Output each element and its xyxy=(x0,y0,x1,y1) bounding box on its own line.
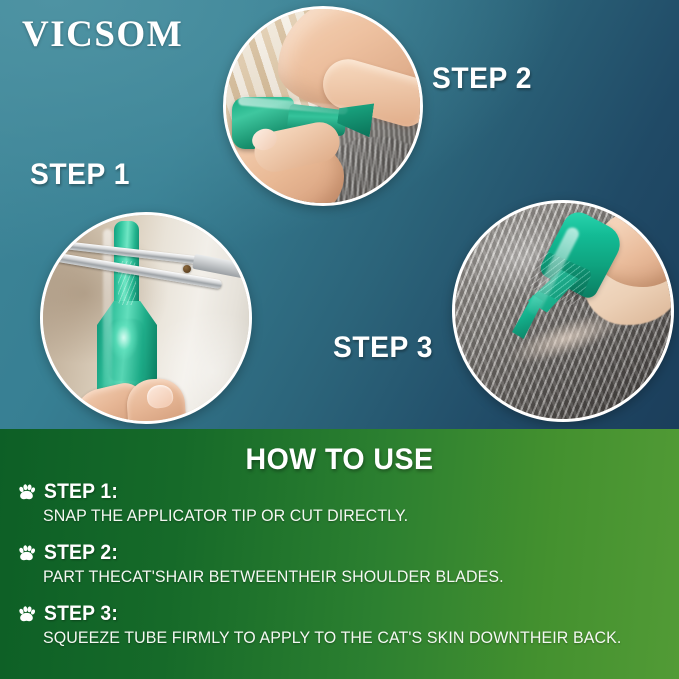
step-2-label: STEP 2 xyxy=(432,62,532,96)
pipette-liquid xyxy=(109,319,144,381)
usage-step-text: SNAP THE APPLICATOR TIP OR CUT DIRECTLY. xyxy=(43,506,630,526)
usage-step-list: STEP 1: SNAP THE APPLICATOR TIP OR CUT D… xyxy=(17,480,667,663)
brand-logo: VICSOM xyxy=(22,13,183,56)
usage-step-name: STEP 2: xyxy=(44,541,118,565)
product-infographic: VICSOM xyxy=(0,0,679,679)
usage-step-text: PART THECAT'SHAIR BETWEENTHEIR SHOULDER … xyxy=(43,567,630,587)
usage-step-text: SQUEEZE TUBE FIRMLY TO APPLY TO THE CAT'… xyxy=(43,628,630,648)
usage-step-item: STEP 1: SNAP THE APPLICATOR TIP OR CUT D… xyxy=(17,480,667,526)
usage-step-header: STEP 2: xyxy=(17,541,667,564)
step-1-label: STEP 1 xyxy=(30,158,130,192)
usage-step-header: STEP 3: xyxy=(17,602,667,625)
usage-step-item: STEP 3: SQUEEZE TUBE FIRMLY TO APPLY TO … xyxy=(17,602,667,648)
usage-step-name: STEP 1: xyxy=(44,480,118,504)
scissors-pivot-screw xyxy=(183,265,191,273)
paw-print-icon xyxy=(17,604,36,623)
how-to-use-heading: HOW TO USE xyxy=(17,443,662,477)
usage-step-header: STEP 1: xyxy=(17,480,667,503)
usage-step-item: STEP 2: PART THECAT'SHAIR BETWEENTHEIR S… xyxy=(17,541,667,587)
hero-panel: VICSOM xyxy=(0,0,679,429)
step-1-photo xyxy=(40,212,252,424)
step-3-label: STEP 3 xyxy=(333,331,433,365)
how-to-use-panel: HOW TO USE STEP 1: SNAP THE APPLICATOR T… xyxy=(0,429,679,679)
usage-step-name: STEP 3: xyxy=(44,602,118,626)
step-2-photo xyxy=(223,6,423,206)
paw-print-icon xyxy=(17,482,36,501)
step-3-photo xyxy=(452,200,674,422)
paw-print-icon xyxy=(17,543,36,562)
